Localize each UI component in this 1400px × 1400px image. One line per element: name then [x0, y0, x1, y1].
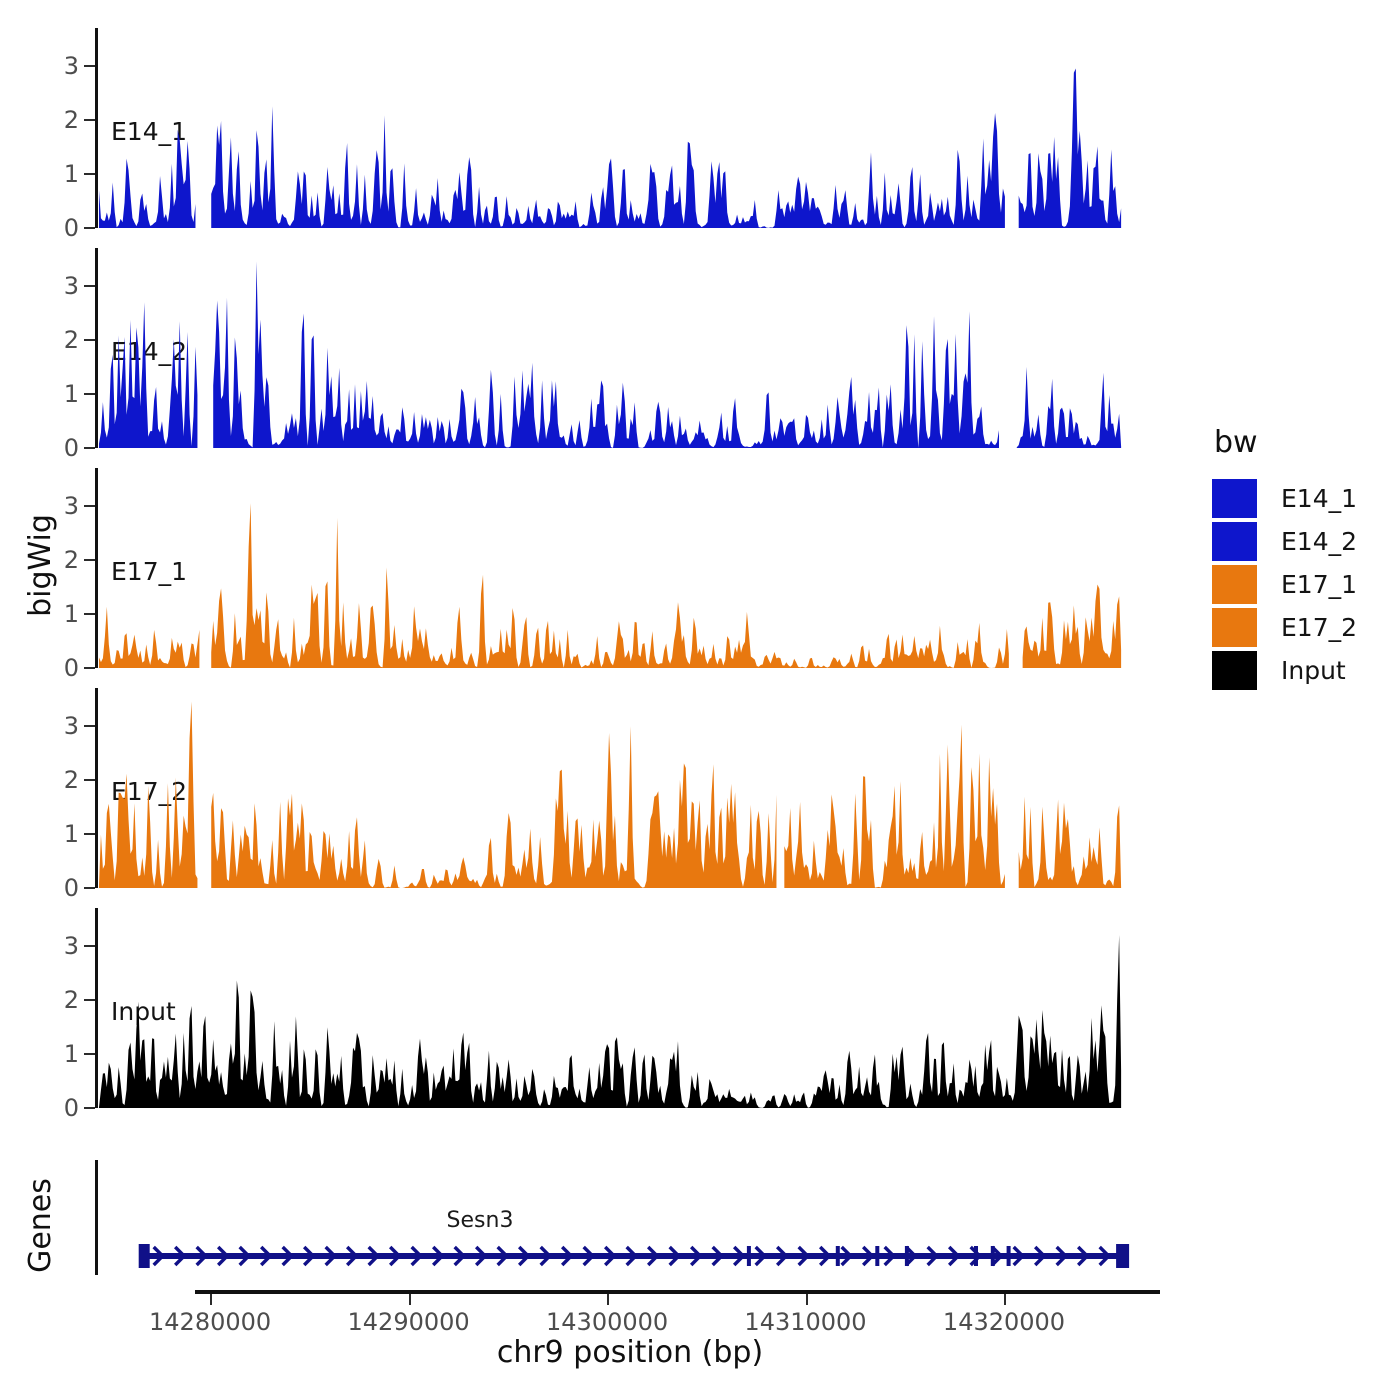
- legend-label: E14_2: [1281, 527, 1357, 556]
- legend-swatch: [1212, 479, 1257, 518]
- genes-axis-title: Genes: [10, 1150, 70, 1300]
- legend-label: Input: [1281, 656, 1346, 685]
- coverage-panel-e14_2: 0123E14_2: [95, 248, 1135, 448]
- x-tick-label: 14320000: [943, 1308, 1065, 1336]
- x-axis-line: [195, 1290, 1160, 1294]
- genome-browser-figure: bigWig Genes 0123E14_10123E14_20123E17_1…: [0, 0, 1400, 1400]
- legend-swatch: [1212, 565, 1257, 604]
- legend-title: bw: [1214, 425, 1392, 460]
- y-tick: [84, 613, 95, 615]
- y-tick: [84, 227, 95, 229]
- y-tick-label: 2: [47, 326, 79, 354]
- y-tick-label: 2: [47, 546, 79, 574]
- x-tick-label: 14310000: [744, 1308, 866, 1336]
- legend-swatch: [1212, 608, 1257, 647]
- y-tick: [84, 667, 95, 669]
- y-tick: [84, 1053, 95, 1055]
- y-tick: [84, 833, 95, 835]
- legend-item-e14_2[interactable]: E14_2: [1212, 521, 1392, 562]
- legend: bw E14_1E14_2E17_1E17_2Input: [1212, 425, 1392, 693]
- genes-track-panel: Sesn3: [95, 1160, 1135, 1295]
- y-tick-label: 3: [47, 272, 79, 300]
- y-tick-label: 0: [47, 434, 79, 462]
- y-tick: [84, 65, 95, 67]
- legend-swatch: [1212, 651, 1257, 690]
- legend-item-e17_2[interactable]: E17_2: [1212, 607, 1392, 648]
- coverage-area-input: [98, 908, 1135, 1108]
- x-axis-title: chr9 position (bp): [100, 1335, 1160, 1370]
- y-tick-label: 1: [47, 1040, 79, 1068]
- y-tick: [84, 285, 95, 287]
- y-tick-label: 2: [47, 766, 79, 794]
- coverage-area-e14_1: [98, 28, 1135, 228]
- legend-label: E17_2: [1281, 613, 1357, 642]
- x-tick-label: 14290000: [348, 1308, 470, 1336]
- y-tick: [84, 1107, 95, 1109]
- legend-item-e14_1[interactable]: E14_1: [1212, 478, 1392, 519]
- x-tick: [806, 1294, 808, 1305]
- y-tick: [84, 447, 95, 449]
- legend-label: E14_1: [1281, 484, 1357, 513]
- gene-model[interactable]: [95, 1160, 1135, 1295]
- y-tick-label: 0: [47, 874, 79, 902]
- x-tick: [409, 1294, 411, 1305]
- coverage-panel-e17_1: 0123E17_1: [95, 468, 1135, 668]
- y-tick-label: 3: [47, 492, 79, 520]
- coverage-area-e17_2: [98, 688, 1135, 888]
- legend-item-input[interactable]: Input: [1212, 650, 1392, 691]
- y-tick: [84, 393, 95, 395]
- y-tick-label: 1: [47, 380, 79, 408]
- x-axis: 1428000014290000143000001431000014320000: [195, 1290, 1160, 1336]
- y-tick-label: 0: [47, 654, 79, 682]
- y-tick-label: 0: [47, 214, 79, 242]
- legend-label: E17_1: [1281, 570, 1357, 599]
- coverage-panel-input: 0123Input: [95, 908, 1135, 1108]
- y-tick: [84, 119, 95, 121]
- y-tick: [84, 173, 95, 175]
- coverage-panel-e14_1: 0123E14_1: [95, 28, 1135, 228]
- coverage-area-e17_1: [98, 468, 1135, 668]
- y-tick: [84, 887, 95, 889]
- y-tick: [84, 559, 95, 561]
- y-tick-label: 2: [47, 986, 79, 1014]
- y-tick-label: 0: [47, 1094, 79, 1122]
- y-tick-label: 2: [47, 106, 79, 134]
- y-tick: [84, 725, 95, 727]
- y-tick-label: 3: [47, 932, 79, 960]
- y-tick: [84, 779, 95, 781]
- y-tick-label: 1: [47, 160, 79, 188]
- x-tick: [1004, 1294, 1006, 1305]
- coverage-area-e14_2: [98, 248, 1135, 448]
- y-tick: [84, 945, 95, 947]
- coverage-panel-e17_2: 0123E17_2: [95, 688, 1135, 888]
- y-tick-label: 1: [47, 600, 79, 628]
- x-tick-label: 14300000: [546, 1308, 668, 1336]
- y-tick: [84, 339, 95, 341]
- legend-swatch: [1212, 522, 1257, 561]
- x-tick: [210, 1294, 212, 1305]
- y-tick: [84, 505, 95, 507]
- x-tick-label: 14280000: [149, 1308, 271, 1336]
- legend-item-e17_1[interactable]: E17_1: [1212, 564, 1392, 605]
- legend-items: E14_1E14_2E17_1E17_2Input: [1212, 478, 1392, 691]
- y-tick: [84, 999, 95, 1001]
- y-tick-label: 3: [47, 52, 79, 80]
- y-tick-label: 1: [47, 820, 79, 848]
- x-tick: [607, 1294, 609, 1305]
- y-tick-label: 3: [47, 712, 79, 740]
